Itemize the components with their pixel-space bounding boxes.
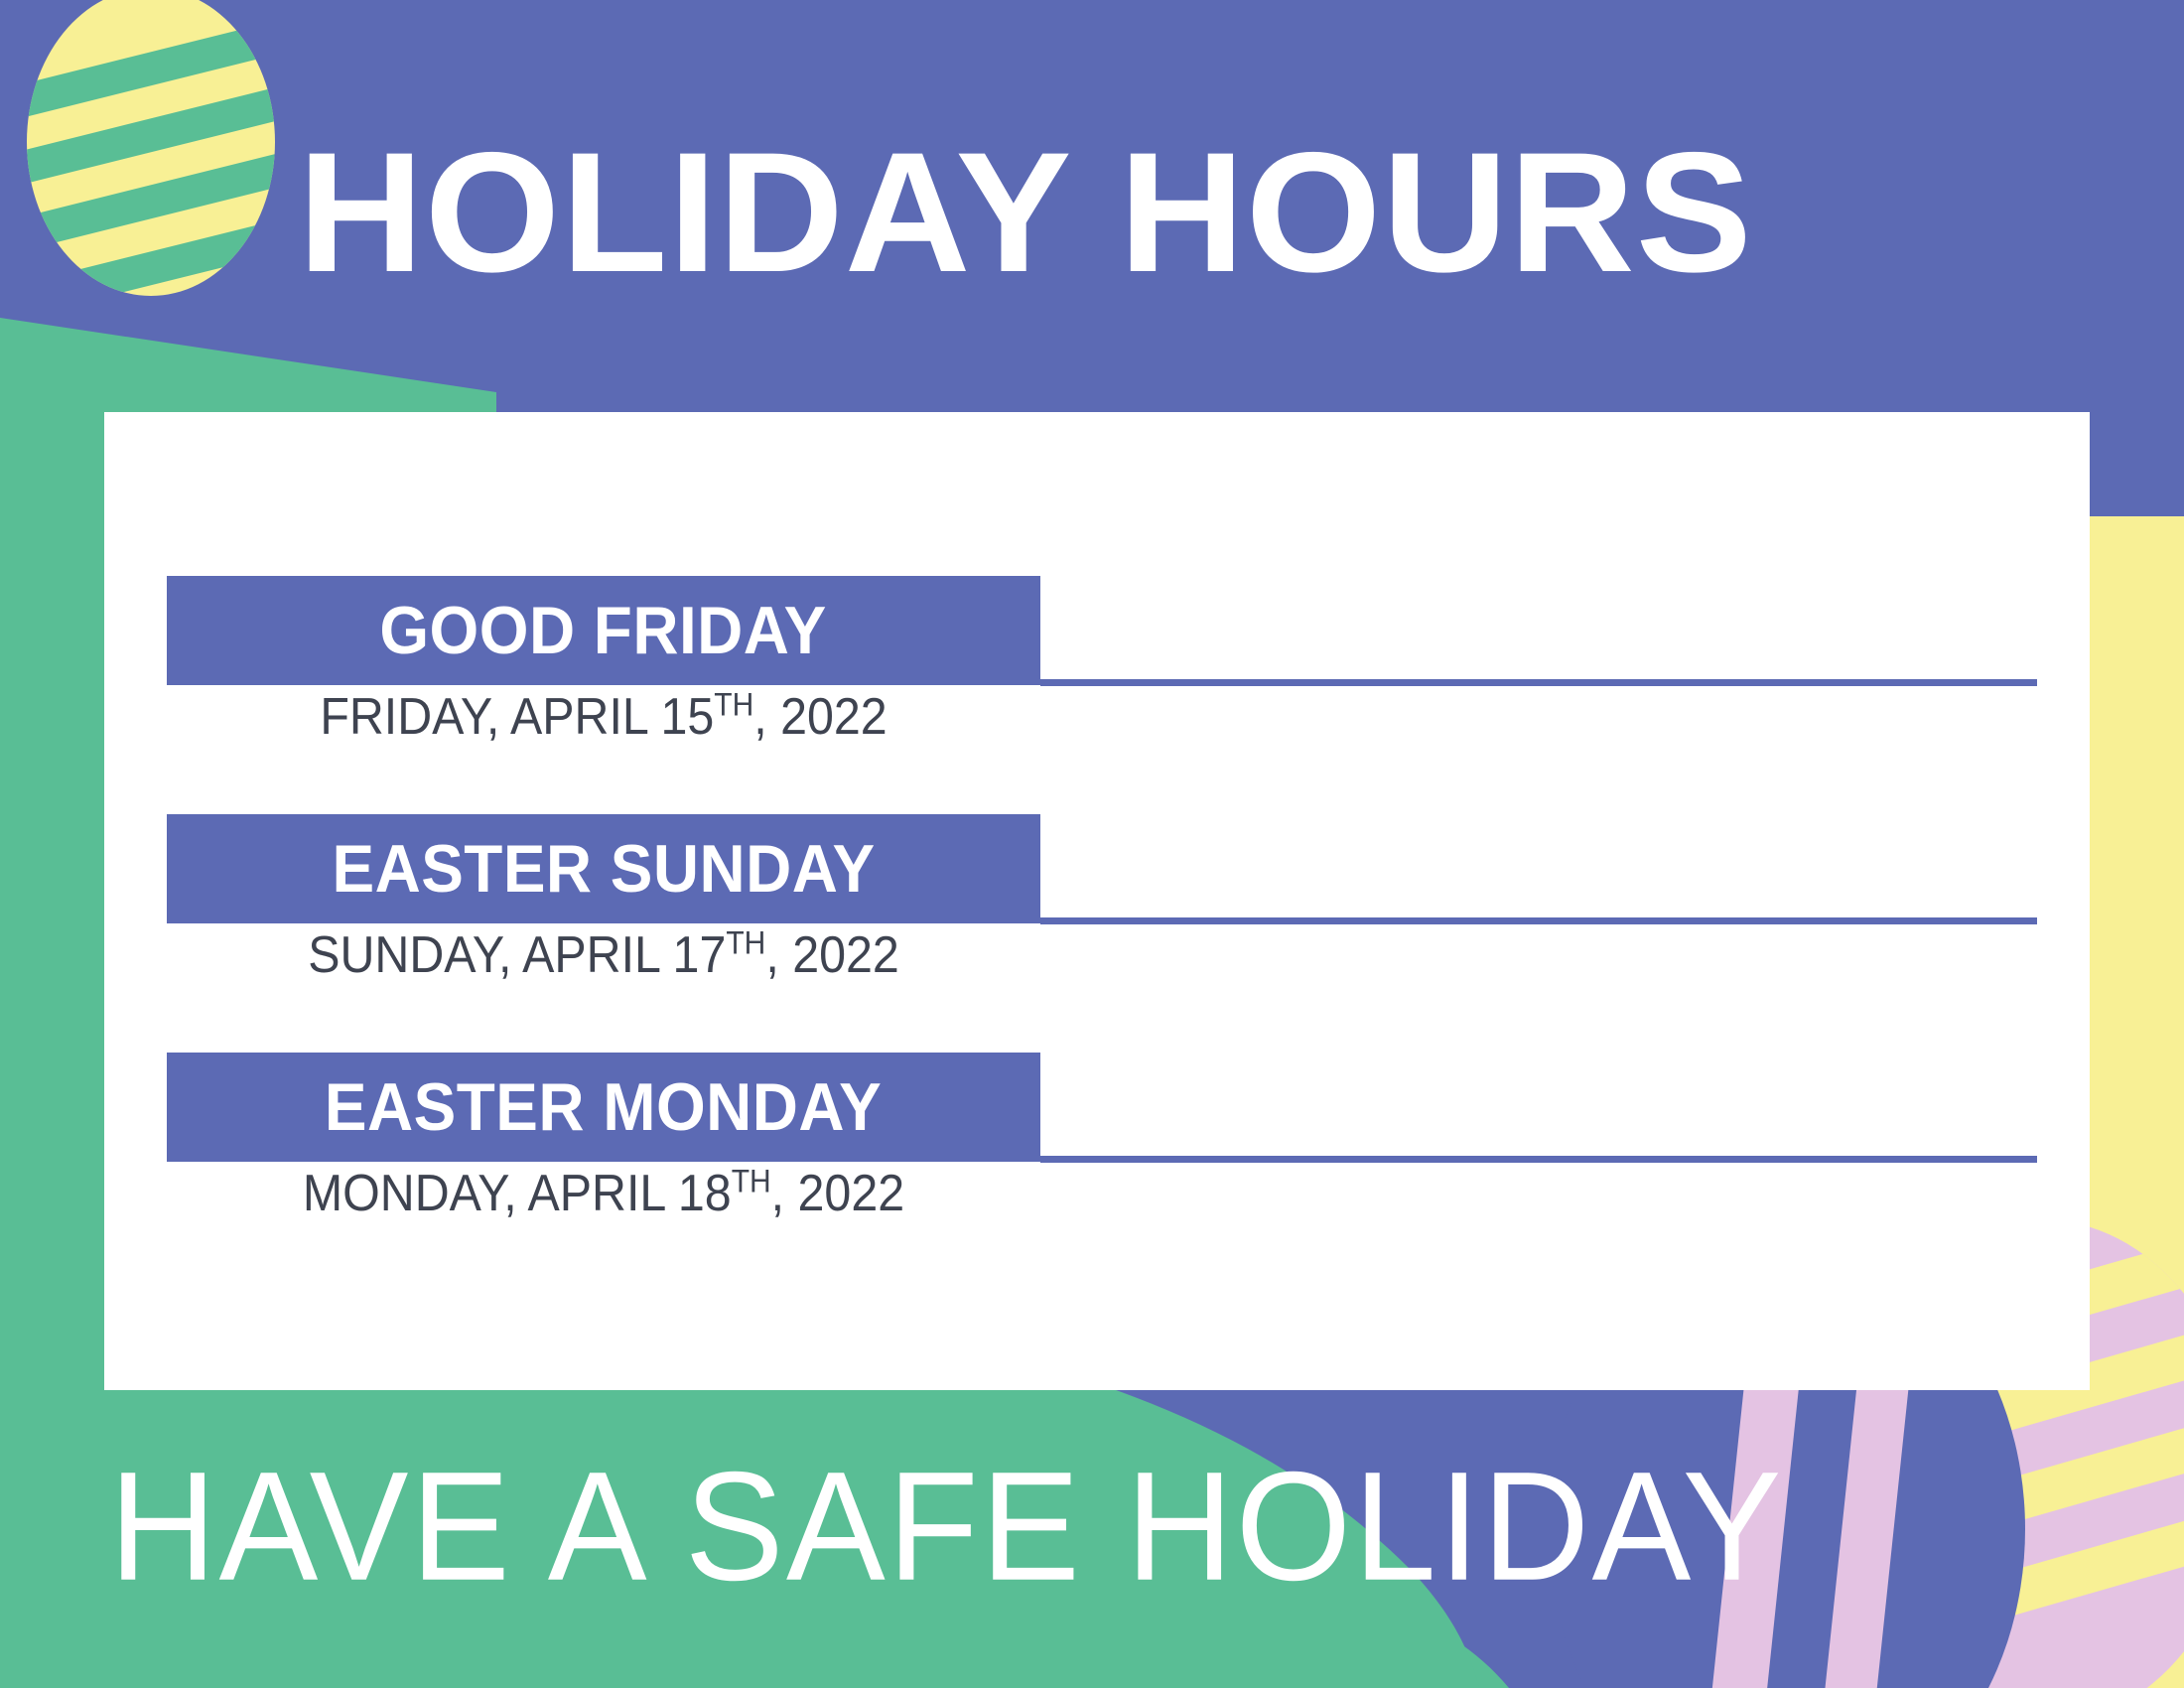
holiday-row: GOOD FRIDAY FRIDAY, APRIL 15TH, 2022 (104, 576, 2090, 804)
hours-card: GOOD FRIDAY FRIDAY, APRIL 15TH, 2022 EAS… (104, 412, 2090, 1390)
holiday-row: EASTER SUNDAY SUNDAY, APRIL 17TH, 2022 (104, 814, 2090, 1043)
holiday-row: EASTER MONDAY MONDAY, APRIL 18TH, 2022 (104, 1053, 2090, 1281)
holiday-name-label: GOOD FRIDAY (380, 592, 827, 669)
holiday-date-ordinal: TH (714, 687, 753, 723)
hours-write-in-rule (1040, 679, 2037, 686)
holiday-date-suffix: , 2022 (753, 688, 887, 746)
holiday-name-bar: GOOD FRIDAY (167, 576, 1040, 685)
holiday-date-prefix: SUNDAY, APRIL 17 (308, 926, 726, 984)
holiday-date-ordinal: TH (726, 925, 765, 961)
hours-write-in-rule (1040, 1156, 2037, 1163)
hours-write-in-rule (1040, 917, 2037, 924)
page-title: HOLIDAY HOURS (298, 127, 1753, 298)
holiday-name-bar: EASTER SUNDAY (167, 814, 1040, 923)
holiday-date-suffix: , 2022 (765, 926, 898, 984)
holiday-date-suffix: , 2022 (771, 1165, 904, 1222)
holiday-rows-list: GOOD FRIDAY FRIDAY, APRIL 15TH, 2022 EAS… (104, 412, 2090, 1390)
holiday-name-label: EASTER SUNDAY (332, 830, 875, 908)
holiday-name-bar: EASTER MONDAY (167, 1053, 1040, 1162)
holiday-date: MONDAY, APRIL 18TH, 2022 (198, 1164, 1010, 1223)
holiday-date-prefix: MONDAY, APRIL 18 (303, 1165, 732, 1222)
holiday-hours-poster: HOLIDAY HOURS GOOD FRIDAY FRIDAY, APRIL … (0, 0, 2184, 1688)
holiday-date-ordinal: TH (732, 1164, 771, 1199)
holiday-name-label: EASTER MONDAY (325, 1068, 882, 1146)
footer-message: HAVE A SAFE HOLIDAY (109, 1438, 1784, 1616)
holiday-date: FRIDAY, APRIL 15TH, 2022 (198, 687, 1010, 747)
holiday-date: SUNDAY, APRIL 17TH, 2022 (198, 925, 1010, 985)
holiday-date-prefix: FRIDAY, APRIL 15 (320, 688, 714, 746)
